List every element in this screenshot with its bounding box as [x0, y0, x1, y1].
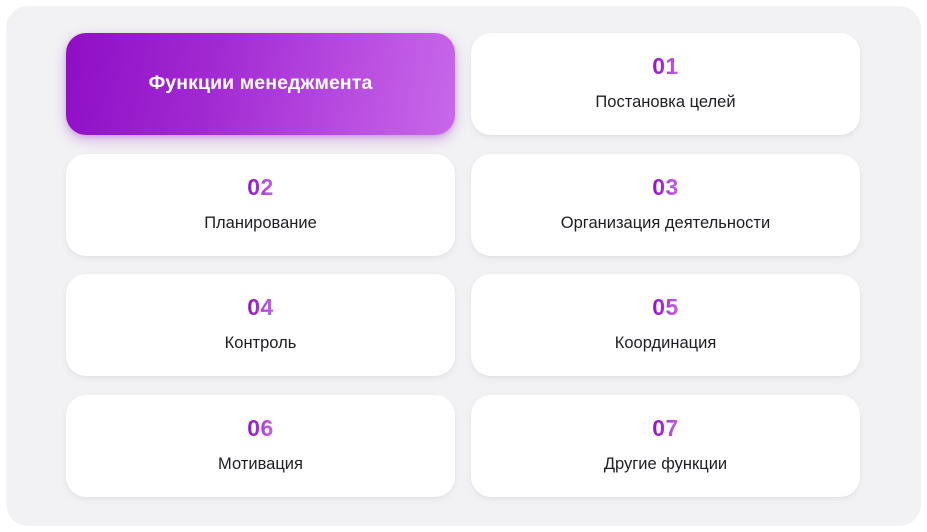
- function-card-number: 07: [652, 417, 678, 440]
- diagram-canvas: Функции менеджмента 01 Постановка целей …: [6, 6, 921, 526]
- function-card-07[interactable]: 07 Другие функции: [471, 395, 860, 497]
- function-card-label: Организация деятельности: [561, 213, 770, 234]
- function-card-01[interactable]: 01 Постановка целей: [471, 33, 860, 135]
- function-card-number: 04: [247, 296, 273, 319]
- functions-grid: Функции менеджмента 01 Постановка целей …: [66, 33, 861, 497]
- function-card-number: 03: [652, 176, 678, 199]
- function-card-label: Контроль: [225, 333, 297, 354]
- function-card-label: Другие функции: [604, 454, 727, 475]
- function-card-label: Мотивация: [218, 454, 303, 475]
- function-card-number: 01: [652, 55, 678, 78]
- function-card-number: 06: [247, 417, 273, 440]
- function-card-number: 02: [247, 176, 273, 199]
- function-card-label: Постановка целей: [595, 92, 735, 113]
- function-card-label: Планирование: [204, 213, 317, 234]
- header-card[interactable]: Функции менеджмента: [66, 33, 455, 135]
- function-card-number: 05: [652, 296, 678, 319]
- function-card-04[interactable]: 04 Контроль: [66, 274, 455, 376]
- function-card-label: Координация: [615, 333, 717, 354]
- function-card-03[interactable]: 03 Организация деятельности: [471, 154, 860, 256]
- header-title: Функции менеджмента: [149, 72, 373, 95]
- function-card-02[interactable]: 02 Планирование: [66, 154, 455, 256]
- function-card-05[interactable]: 05 Координация: [471, 274, 860, 376]
- function-card-06[interactable]: 06 Мотивация: [66, 395, 455, 497]
